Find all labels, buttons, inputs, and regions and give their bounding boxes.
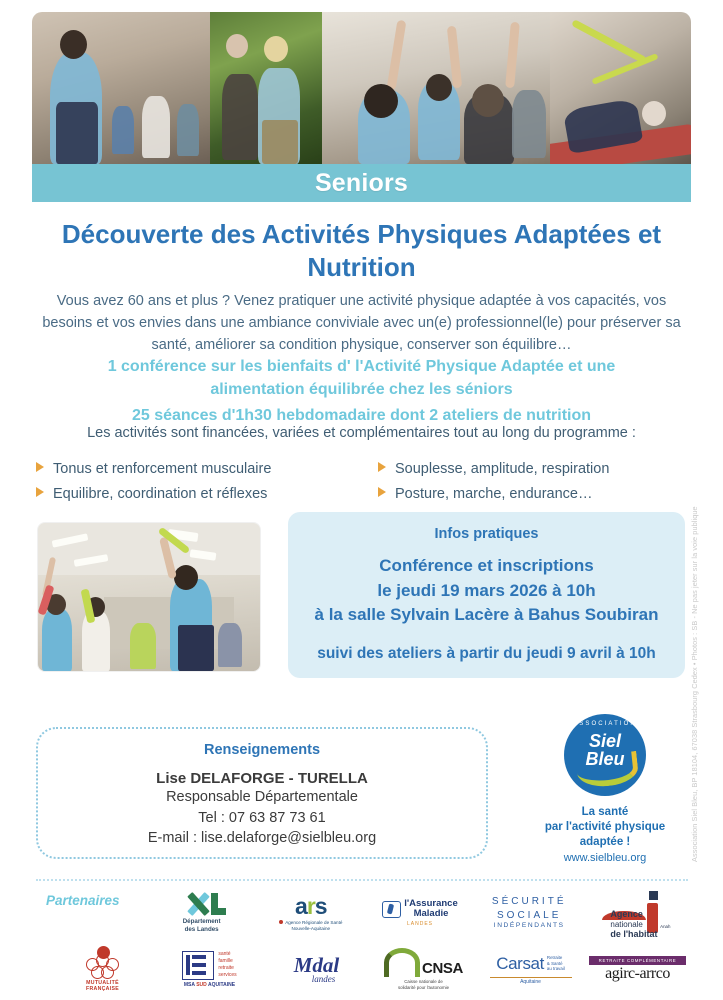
highlight-block: 1 conférence sur les bienfaits d' l'Acti… xyxy=(44,355,679,427)
msa-mark: santé famille retraite services xyxy=(182,951,236,980)
list-item: Tonus et renforcement musculaire xyxy=(36,460,344,479)
triangle-bullet-icon xyxy=(36,462,44,472)
siel-bleu-url[interactable]: www.sielbleu.org xyxy=(525,852,685,864)
partners-row-1: Département des Landes ars Agence Région… xyxy=(150,884,690,942)
small-line-3: au travail xyxy=(547,966,565,971)
bullet-label: Equilibre, coordination et réflexes xyxy=(53,485,267,504)
partner-subtext: Retraite & Santé au travail xyxy=(547,955,565,973)
partner-wordmark: l'Assurance Maladie xyxy=(404,899,457,920)
word-line-3: de l'habitat xyxy=(610,929,657,939)
partner-caption: Caisse nationale de solidarité pour l'au… xyxy=(398,979,449,990)
infos-pratiques-box: Infos pratiques Conférence et inscriptio… xyxy=(288,512,685,678)
xl-mark-icon xyxy=(186,893,218,915)
intro-paragraph: Vous avez 60 ans et plus ? Venez pratiqu… xyxy=(34,290,689,356)
partner-caption: Aquitaine xyxy=(520,979,541,985)
bullet-label: Tonus et renforcement musculaire xyxy=(53,460,271,479)
partner-logo-cnsa: CNSA Caisse nationale de solidarité pour… xyxy=(373,940,474,998)
partner-logo-anah: Agence nationale de l'habitat Anah xyxy=(587,884,690,942)
partner-logo-ars: ars Agence Régionale de Santé Nouvelle-A… xyxy=(259,884,362,942)
partners-divider xyxy=(36,879,688,881)
partner-caption: RETRAITE COMPLÉMENTAIRE xyxy=(589,956,687,965)
triangle-bullet-icon xyxy=(378,487,386,497)
vertical-legal-text: Association Siel Bleu, BP 18104, 67038 S… xyxy=(690,492,699,862)
renseignements-title: Renseignements xyxy=(38,742,486,758)
caption-line-1: Caisse nationale de xyxy=(404,979,443,984)
ars-wordmark: ars xyxy=(295,895,327,918)
infos-line-2: le jeudi 19 mars 2026 à 10h xyxy=(288,579,685,604)
seniors-banner-label: Seniors xyxy=(315,169,408,198)
msa-word-1: famille xyxy=(218,958,232,964)
caption-line-2: des Landes xyxy=(185,926,219,933)
partner-caption: MUTUALITÉ FRANÇAISE xyxy=(86,980,119,992)
poster-root: Seniors Découverte des Activités Physiqu… xyxy=(0,0,723,1000)
runner-icon xyxy=(382,901,401,918)
partner-logo-agirc-arrco: RETRAITE COMPLÉMENTAIRE agirc-arrco xyxy=(587,940,688,998)
partner-logo-securite-sociale-independants: SÉCURITÉ SOCIALE INDÉPENDANTS xyxy=(478,884,581,942)
partner-wordmark: Mdal xyxy=(294,955,340,976)
caption-line-1: Département xyxy=(183,918,221,925)
word-line-1: Agence xyxy=(610,909,643,919)
red-dot-icon xyxy=(279,920,283,924)
caption-line-2: FRANÇAISE xyxy=(86,986,119,992)
infos-line-3: à la salle Sylvain Lacère à Bahus Soubir… xyxy=(288,603,685,628)
partner-logo-carsat: Carsat Retraite & Santé au travail Aquit… xyxy=(480,940,581,998)
msa-word-3: services xyxy=(218,972,236,978)
caption-pre: MSA xyxy=(184,982,196,988)
photo-elastic-band-class xyxy=(38,523,260,671)
infos-pratiques-title: Infos pratiques xyxy=(288,526,685,542)
bullet-column-right: Souplesse, amplitude, respiration Postur… xyxy=(344,460,686,510)
siel-bleu-association-label: ASSOCIATION xyxy=(564,721,646,727)
contact-name: Lise DELAFORGE - TURELLA xyxy=(38,770,486,787)
photo-nordic-walking-couple xyxy=(210,12,322,164)
msa-services-list: santé famille retraite services xyxy=(218,951,236,979)
partner-caption: Anah xyxy=(660,924,670,929)
word-line-2: nationale xyxy=(610,920,642,929)
partner-wordmark: Agence nationale de l'habitat xyxy=(610,909,657,940)
word-line-2: SOCIALE xyxy=(492,909,567,923)
smile-swoosh-icon xyxy=(575,751,639,789)
list-item: Equilibre, coordination et réflexes xyxy=(36,485,344,504)
siel-bleu-tagline-2: par l'activité physique adaptée ! xyxy=(525,820,685,850)
word-line-1: SÉCURITÉ xyxy=(492,895,567,909)
caption-line-1: MUTUALITÉ xyxy=(86,980,119,986)
partner-caption: LANDES xyxy=(407,921,433,927)
small-line-1: Retraite xyxy=(547,955,562,960)
list-item: Posture, marche, endurance… xyxy=(378,485,686,504)
partner-caption: Agence Régionale de Santé Nouvelle-Aquit… xyxy=(279,920,342,932)
word-line-2: Maladie xyxy=(414,908,449,919)
activities-bullets: Tonus et renforcement musculaire Equilib… xyxy=(36,460,686,510)
anah-mark: Agence nationale de l'habitat Anah xyxy=(602,891,674,935)
msa-word-0: santé xyxy=(218,951,230,957)
partner-wordmark: SÉCURITÉ SOCIALE INDÉPENDANTS xyxy=(492,895,567,931)
infos-line-1: Conférence et inscriptions xyxy=(288,554,685,579)
msa-box-icon xyxy=(182,951,214,980)
word-line-3: INDÉPENDANTS xyxy=(492,922,567,931)
triangle-bullet-icon xyxy=(378,462,386,472)
square-icon xyxy=(649,891,658,900)
msa-word-2: retraite xyxy=(218,965,234,971)
siel-bleu-logo-icon: ASSOCIATION Siel Bleu xyxy=(564,714,646,796)
infos-pratiques-sub: suivi des ateliers à partir du jeudi 9 a… xyxy=(288,645,685,663)
header-photo-strip xyxy=(32,12,691,164)
divider xyxy=(490,977,572,978)
contact-email[interactable]: E-mail : lise.delaforge@sielbleu.org xyxy=(38,828,486,849)
bullet-label: Souplesse, amplitude, respiration xyxy=(395,460,609,479)
renseignements-box: Renseignements Lise DELAFORGE - TURELLA … xyxy=(36,727,488,859)
contact-role: Responsable Départementale xyxy=(38,787,486,808)
photo-arms-raised-group xyxy=(322,12,550,164)
caption-line-2: solidarité pour l'autonomie xyxy=(398,985,449,990)
partner-wordmark: Carsat xyxy=(496,954,544,974)
highlight-line-3: 25 séances d'1h30 hebdomadaire dont 2 at… xyxy=(44,404,679,427)
partners-label: Partenaires xyxy=(46,893,120,908)
photo-floor-stretching xyxy=(550,12,691,164)
seniors-banner: Seniors xyxy=(32,164,691,202)
page-title: Découverte des Activités Physiques Adapt… xyxy=(40,218,683,284)
partner-wordmark: CNSA xyxy=(422,960,463,977)
partner-logo-msa-sud-aquitaine: santé famille retraite services MSA SUD … xyxy=(159,940,260,998)
photo-gym-class xyxy=(32,12,210,164)
mutualite-flower-icon xyxy=(80,946,126,980)
partner-wordmark: agirc-arrco xyxy=(605,965,670,983)
highlight-line-2: alimentation équilibrée chez les séniors xyxy=(44,378,679,401)
bullet-label: Posture, marche, endurance… xyxy=(395,485,592,504)
partner-logo-mdal-landes: Mdal landes xyxy=(266,940,367,998)
arch-icon xyxy=(384,948,420,977)
caption-line-1: Agence Régionale de Santé xyxy=(285,920,342,925)
small-line-2: & Santé xyxy=(547,961,563,966)
activities-intro: Les activités sont financées, variées et… xyxy=(34,425,689,441)
partner-caption: landes xyxy=(312,974,336,984)
partner-logo-departement-des-landes: Département des Landes xyxy=(150,884,253,942)
partner-caption: MSA SUD AQUITAINE xyxy=(184,982,235,988)
caption-mid: SUD xyxy=(196,982,207,988)
partner-caption: Département des Landes xyxy=(183,918,221,933)
siel-bleu-tagline-1: La santé xyxy=(525,805,685,820)
assurance-maladie-mark: l'Assurance Maladie xyxy=(382,899,457,920)
page-title-line-2: Nutrition xyxy=(40,251,683,284)
triangle-bullet-icon xyxy=(36,487,44,497)
cnsa-mark: CNSA xyxy=(384,948,463,977)
partner-logo-mutualite-francaise: MUTUALITÉ FRANÇAISE xyxy=(52,940,153,998)
caption-line-2: Nouvelle-Aquitaine xyxy=(292,926,331,931)
partners-row-2: MUTUALITÉ FRANÇAISE santé famille retrai… xyxy=(52,940,688,998)
list-item: Souplesse, amplitude, respiration xyxy=(378,460,686,479)
siel-bleu-logo-block: ASSOCIATION Siel Bleu La santé par l'act… xyxy=(525,714,685,864)
bullet-column-left: Tonus et renforcement musculaire Equilib… xyxy=(36,460,344,510)
infos-pratiques-main: Conférence et inscriptions le jeudi 19 m… xyxy=(288,554,685,628)
highlight-line-1: 1 conférence sur les bienfaits d' l'Acti… xyxy=(44,355,679,378)
carsat-mark: Carsat Retraite & Santé au travail xyxy=(496,954,565,974)
contact-phone[interactable]: Tel : 07 63 87 73 61 xyxy=(38,808,486,829)
partner-logo-assurance-maladie: l'Assurance Maladie LANDES xyxy=(368,884,471,942)
page-title-line-1: Découverte des Activités Physiques Adapt… xyxy=(40,218,683,251)
siel-bleu-tagline: La santé par l'activité physique adaptée… xyxy=(525,805,685,850)
caption-post: AQUITAINE xyxy=(207,982,235,988)
